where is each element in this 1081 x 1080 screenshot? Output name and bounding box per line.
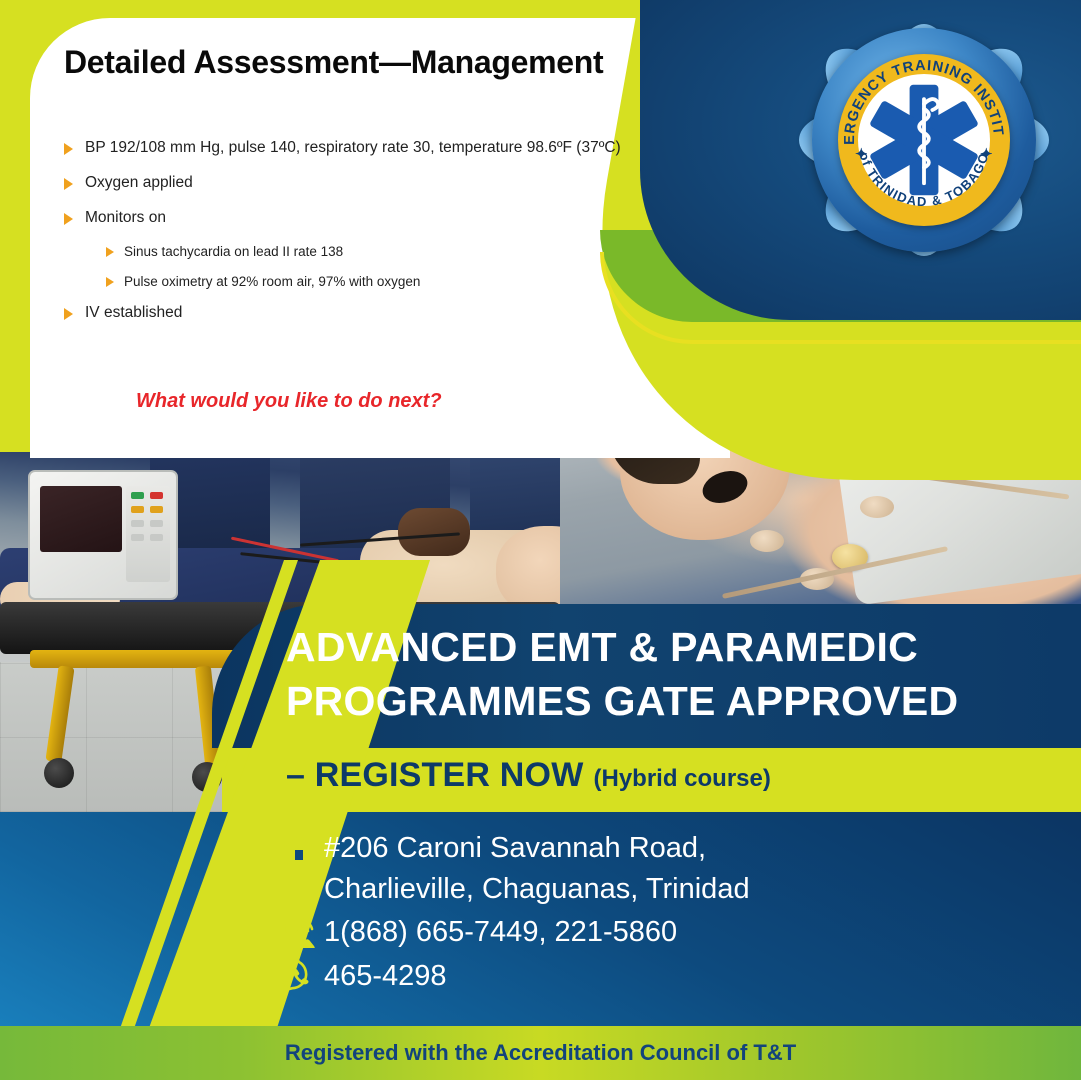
bullet-subitem: Pulse oximetry at 92% room air, 97% with… (106, 273, 624, 291)
bullet-text: IV established (85, 303, 182, 324)
address-line2: Charlieville, Chaguanas, Trinidad (324, 869, 750, 910)
ecg-electrode (860, 496, 894, 518)
ecg-electrode (750, 530, 784, 552)
bullet-subitem: Sinus tachycardia on lead II rate 138 (106, 243, 624, 261)
stretcher-wheel (192, 762, 222, 792)
phone-icon (282, 912, 324, 952)
triangle-bullet-icon (106, 277, 114, 287)
accreditation-bar: Registered with the Accreditation Counci… (0, 1026, 1081, 1080)
bullet-item: Oxygen applied (64, 173, 624, 194)
bullet-item: IV established (64, 303, 624, 324)
home-icon (282, 828, 324, 868)
contact-block: #206 Caroni Savannah Road, Charlieville,… (282, 828, 750, 999)
contact-address-row: #206 Caroni Savannah Road, Charlieville,… (282, 828, 750, 910)
prompt-question: What would you like to do next? (136, 390, 442, 413)
register-now-label: – REGISTER NOW (286, 756, 584, 795)
bullet-text: Oxygen applied (85, 173, 193, 194)
triangle-bullet-icon (64, 213, 73, 225)
whatsapp-icon (282, 956, 324, 996)
accreditation-text: Registered with the Accreditation Counci… (285, 1040, 796, 1066)
register-now-line[interactable]: – REGISTER NOW (Hybrid course) (286, 756, 771, 795)
banner-headline-line1: ADVANCED EMT & PARAMEDIC (286, 624, 918, 671)
hybrid-course-label: (Hybrid course) (594, 765, 771, 793)
slide-title: Detailed Assessment—Management (64, 44, 603, 81)
whatsapp-number: 465-4298 (324, 956, 447, 997)
bullet-text: Monitors on (85, 208, 166, 229)
bullet-item: BP 192/108 mm Hg, pulse 140, respiratory… (64, 138, 624, 159)
star-of-life-icon (864, 80, 984, 200)
poster-root: EMERGENCY TRAINING INSTITUTE of TRINIDAD… (0, 0, 1081, 1080)
yellow-outline-decoration (600, 252, 1081, 344)
bullet-list: BP 192/108 mm Hg, pulse 140, respiratory… (64, 138, 624, 338)
contact-phone-row[interactable]: 1(868) 665-7449, 221-5860 (282, 912, 750, 953)
defibrillator-monitor (28, 470, 178, 600)
phone-numbers: 1(868) 665-7449, 221-5860 (324, 912, 677, 953)
bullet-text: Sinus tachycardia on lead II rate 138 (124, 243, 343, 261)
monitor-buttons (126, 486, 170, 582)
contact-whatsapp-row[interactable]: 465-4298 (282, 956, 750, 997)
bullet-item: Monitors on (64, 208, 624, 229)
stretcher-wheel (44, 758, 74, 788)
bullet-text: Pulse oximetry at 92% room air, 97% with… (124, 273, 420, 291)
triangle-bullet-icon (64, 143, 73, 155)
triangle-bullet-icon (64, 178, 73, 190)
banner-headline-line2: PROGRAMMES GATE APPROVED (286, 678, 958, 725)
monitor-screen (40, 486, 122, 552)
address-line1: #206 Caroni Savannah Road, (324, 832, 706, 864)
triangle-bullet-icon (106, 247, 114, 257)
eti-logo: EMERGENCY TRAINING INSTITUTE of TRINIDAD… (806, 22, 1042, 258)
triangle-bullet-icon (64, 308, 73, 320)
bullet-text: BP 192/108 mm Hg, pulse 140, respiratory… (85, 138, 621, 159)
